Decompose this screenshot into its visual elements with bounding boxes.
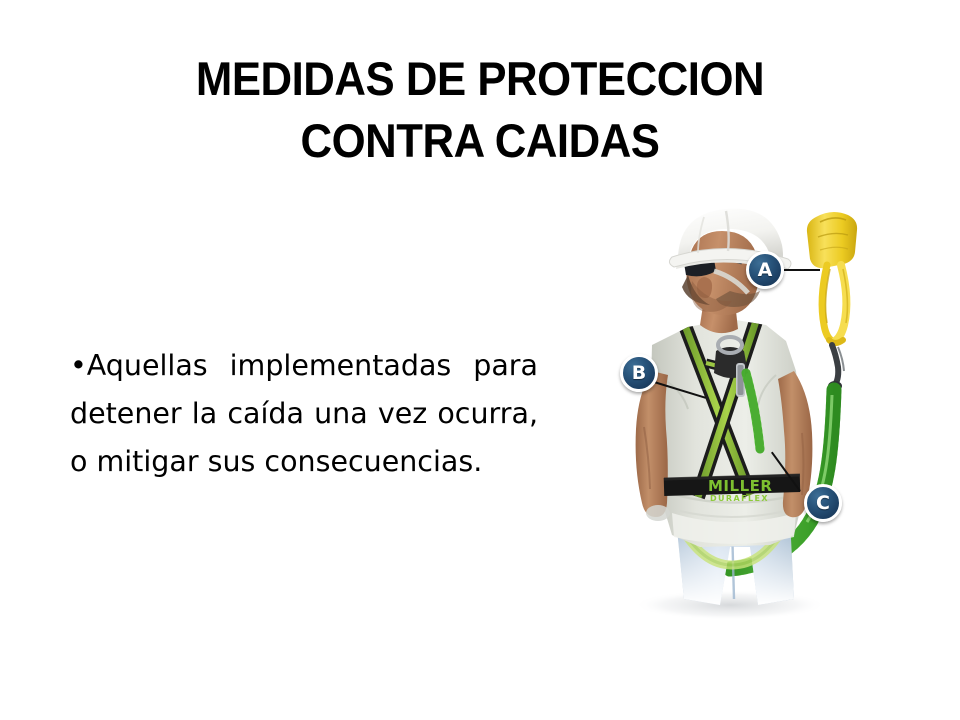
anchor-strap-yellow <box>807 212 857 343</box>
callout-marker-a[interactable]: A <box>746 251 784 289</box>
title-line-2: CONTRA CAIDAS <box>136 110 824 172</box>
title-line-1: MEDIDAS DE PROTECCION <box>136 48 824 110</box>
left-arm <box>636 371 670 521</box>
ground-shadow <box>634 590 826 620</box>
page-title: MEDIDAS DE PROTECCION CONTRA CAIDAS <box>110 48 850 172</box>
bullet-paragraph: •Aquellas implementadas para detener la … <box>70 342 538 486</box>
brand-label-miller: MILLER <box>708 477 772 495</box>
body-text-block: •Aquellas implementadas para detener la … <box>70 342 538 486</box>
callout-label-b: B <box>632 364 646 383</box>
leader-line-a <box>784 269 820 271</box>
brand-label-duraflex: DURAFLEX <box>710 494 769 503</box>
callout-marker-c[interactable]: C <box>804 484 842 522</box>
callout-marker-b[interactable]: B <box>620 354 658 392</box>
callout-label-c: C <box>816 494 830 513</box>
callout-label-a: A <box>758 261 773 280</box>
slide-canvas: MEDIDAS DE PROTECCION CONTRA CAIDAS •Aqu… <box>0 0 960 720</box>
